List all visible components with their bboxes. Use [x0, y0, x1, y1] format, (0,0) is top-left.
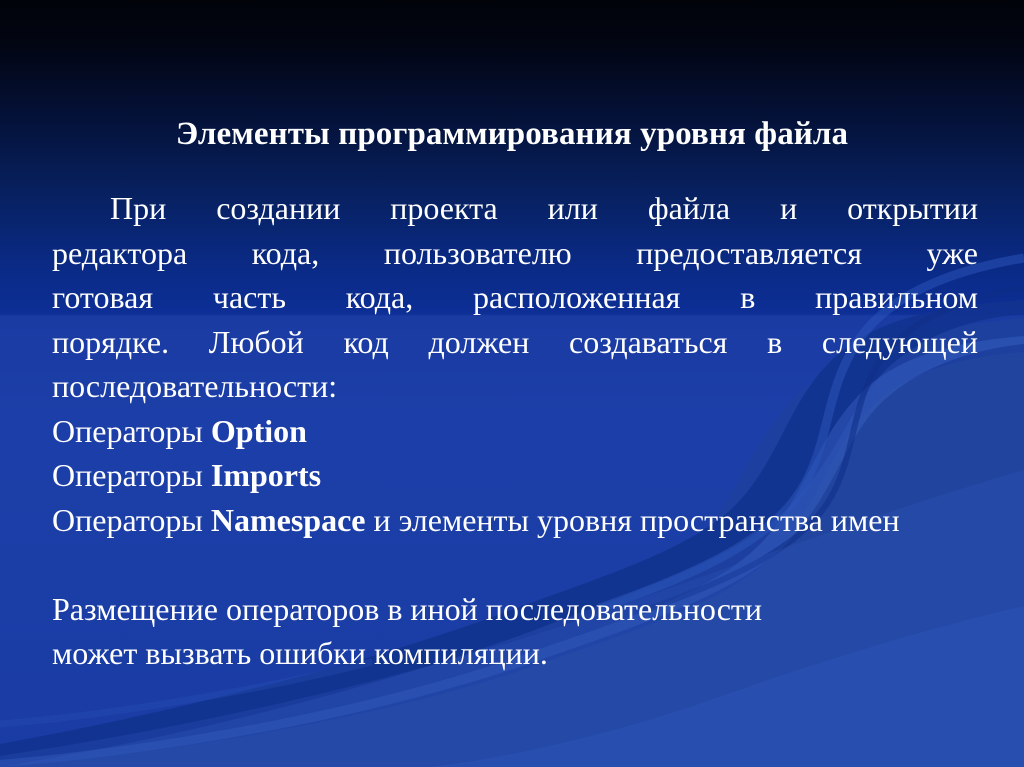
slide-body: При создании проекта или файла и открыти… [52, 186, 978, 676]
closing-paragraph: Размещение операторов в иной последовате… [52, 587, 978, 676]
keyword-namespace: Namespace [211, 502, 366, 538]
intro-line-5: последовательности: [52, 364, 978, 409]
sequence-item-option: Операторы Option [52, 409, 978, 454]
sequence-item-option-prefix: Операторы [52, 413, 211, 449]
paragraph-spacer [52, 542, 978, 587]
sequence-item-imports: Операторы Imports [52, 453, 978, 498]
sequence-item-imports-prefix: Операторы [52, 457, 211, 493]
keyword-imports: Imports [211, 457, 321, 493]
closing-line-1: Размещение операторов в иной последовате… [52, 587, 978, 632]
intro-line-1: При создании проекта или файла и открыти… [52, 186, 978, 231]
presentation-slide: Элементы программирования уровня файла П… [0, 0, 1024, 767]
keyword-option: Option [211, 413, 307, 449]
intro-line-4: порядке. Любой код должен создаваться в … [52, 320, 978, 365]
slide-content: Элементы программирования уровня файла П… [0, 0, 1024, 767]
closing-line-2: может вызвать ошибки компиляции. [52, 631, 978, 676]
sequence-item-namespace-suffix: и элементы уровня пространства имен [366, 502, 900, 538]
sequence-item-namespace-prefix: Операторы [52, 502, 211, 538]
sequence-list: Операторы Option Операторы Imports Опера… [52, 409, 978, 543]
intro-paragraph: При создании проекта или файла и открыти… [52, 186, 978, 409]
sequence-item-namespace: Операторы Namespace и элементы уровня пр… [52, 498, 978, 543]
intro-line-3: готовая часть кода, расположенная в прав… [52, 275, 978, 320]
slide-title: Элементы программирования уровня файла [0, 114, 1024, 154]
intro-line-2: редактора кода, пользователю предоставля… [52, 231, 978, 276]
